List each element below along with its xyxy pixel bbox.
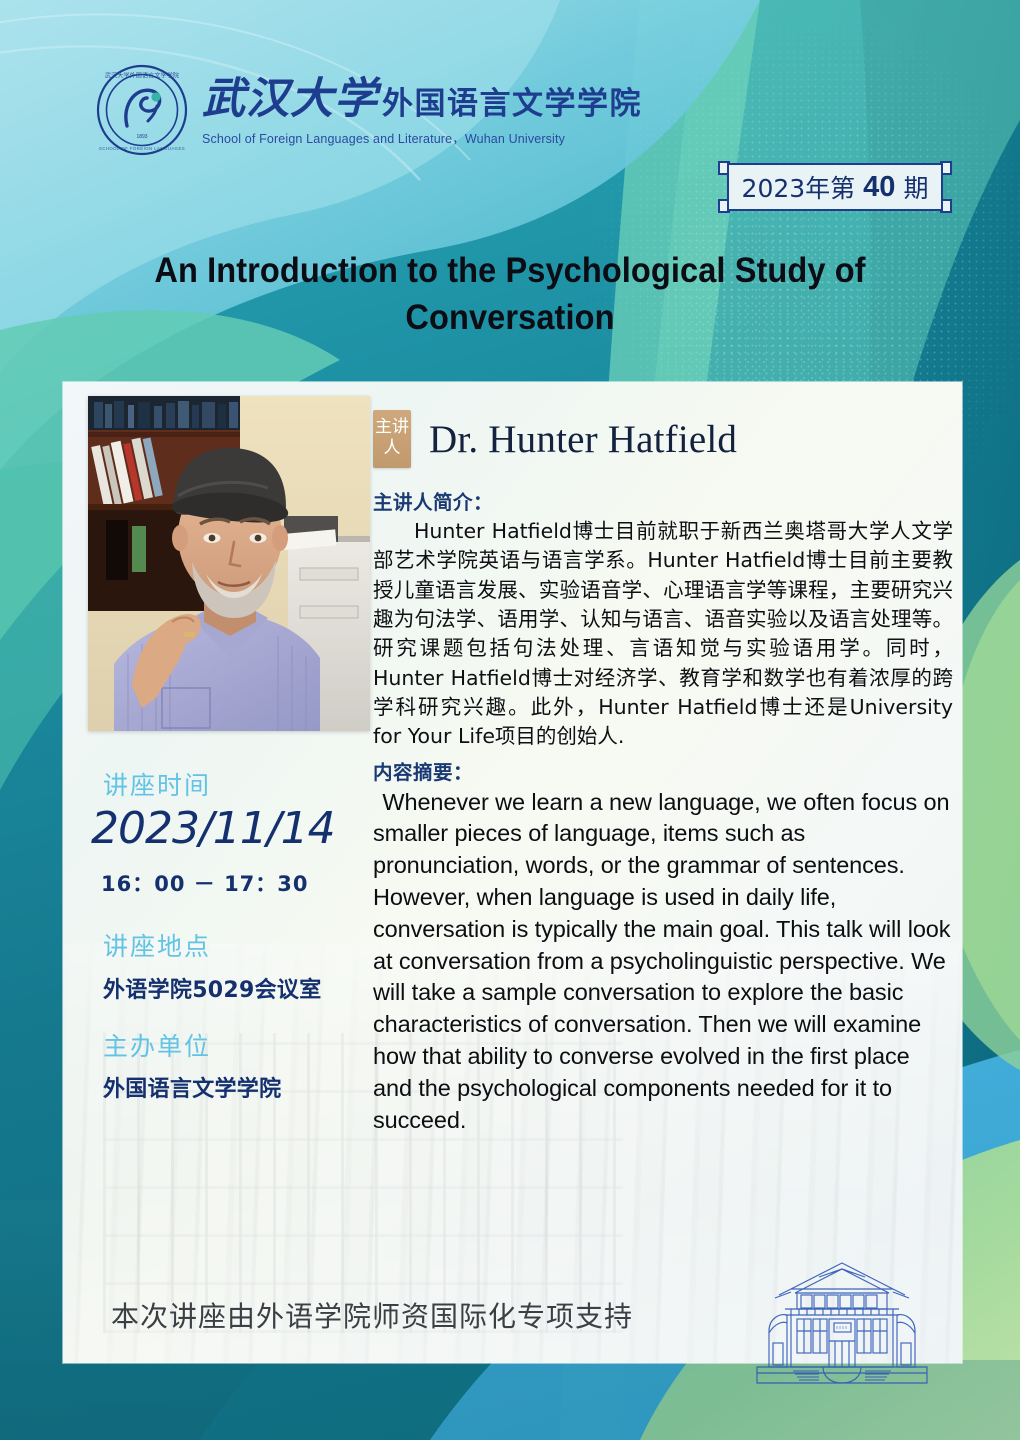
poster-header: 武汉大学外国语言文学学院 SCHOOL OF FOREIGN LANGUAGES… bbox=[0, 62, 1020, 168]
speaker-row: 主讲人 Dr. Hunter Hatfield bbox=[373, 392, 953, 480]
detail-venue-value: 外语学院5029会议室 bbox=[83, 972, 393, 1004]
abstract-text: Whenever we learn a new language, we oft… bbox=[373, 787, 953, 1137]
bio-heading: 主讲人简介： bbox=[373, 486, 953, 515]
speaker-portrait-photo-icon bbox=[88, 396, 370, 731]
svg-text:1893: 1893 bbox=[136, 134, 147, 140]
svg-text:武汉大学外国语言文学学院: 武汉大学外国语言文学学院 bbox=[105, 72, 179, 80]
logo-university-cn: 武汉大学 bbox=[202, 78, 378, 121]
lecture-details: 讲座时间 2023/11/14 16：00 － 17：30 讲座地点 外语学院5… bbox=[83, 767, 393, 1105]
issue-prefix: 2023年第 bbox=[742, 169, 856, 205]
issue-badge: 2023年第 40 期 bbox=[727, 163, 943, 211]
detail-time: 讲座时间 2023/11/14 16：00 － 17：30 bbox=[83, 767, 393, 898]
speaker-name: Dr. Hunter Hatfield bbox=[429, 417, 737, 462]
support-footnote: 本次讲座由外语学院师资国际化专项支持 bbox=[111, 1295, 633, 1335]
logo-school-cn: 外国语言文学学院 bbox=[382, 88, 642, 121]
page-title: An Introduction to the Psychological Stu… bbox=[138, 248, 882, 341]
issue-suffix: 期 bbox=[903, 169, 928, 205]
detail-date-value: 2023/11/14 bbox=[83, 805, 393, 853]
speaker-tag: 主讲人 bbox=[373, 410, 411, 467]
abstract-heading: 内容摘要： bbox=[373, 756, 953, 785]
logo-english: School of Foreign Languages and Literatu… bbox=[202, 128, 642, 147]
poster-root: 武汉大学外国语言文学学院 SCHOOL OF FOREIGN LANGUAGES… bbox=[0, 0, 1020, 1440]
wuhan-university-library-line-art-icon bbox=[735, 1245, 950, 1395]
speaker-and-abstract: 主讲人 Dr. Hunter Hatfield 主讲人简介： Hunter Ha… bbox=[373, 392, 953, 1137]
wuhan-university-sfll-seal-icon: 武汉大学外国语言文学学院 SCHOOL OF FOREIGN LANGUAGES… bbox=[96, 64, 188, 156]
detail-organizer-value: 外国语言文学学院 bbox=[83, 1071, 393, 1103]
detail-organizer-label: 主办单位 bbox=[83, 1028, 393, 1066]
detail-venue: 讲座地点 外语学院5029会议室 bbox=[83, 928, 393, 1004]
svg-text:SCHOOL OF FOREIGN LANGUAGES: SCHOOL OF FOREIGN LANGUAGES bbox=[99, 146, 185, 151]
detail-time-range-value: 16：00 － 17：30 bbox=[83, 868, 393, 898]
content-card: 讲座时间 2023/11/14 16：00 － 17：30 讲座地点 外语学院5… bbox=[63, 382, 962, 1363]
detail-time-label: 讲座时间 bbox=[83, 767, 393, 805]
issue-number: 40 bbox=[858, 171, 900, 204]
detail-venue-label: 讲座地点 bbox=[83, 928, 393, 966]
speaker-bio: Hunter Hatfield博士目前就职于新西兰奥塔哥大学人文学部艺术学院英语… bbox=[373, 517, 953, 752]
school-logo: 武汉大学外国语言文学学院 SCHOOL OF FOREIGN LANGUAGES… bbox=[96, 64, 642, 156]
detail-organizer: 主办单位 外国语言文学学院 bbox=[83, 1028, 393, 1104]
